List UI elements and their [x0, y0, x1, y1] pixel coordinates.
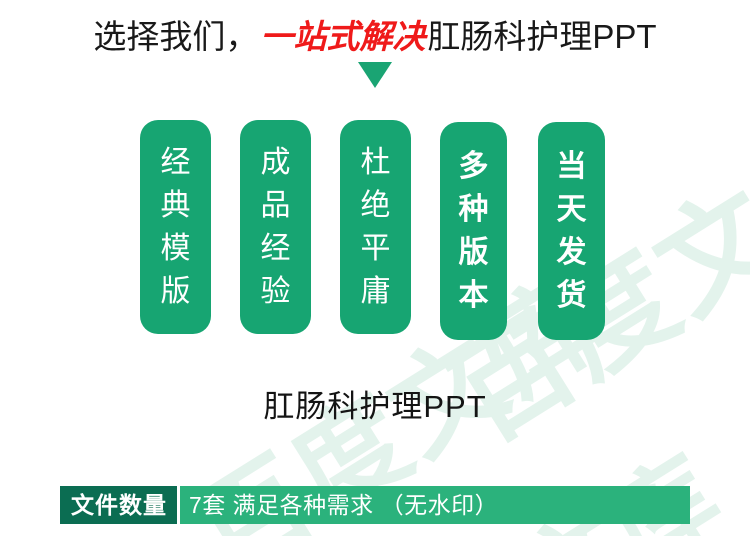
pill-char: 品	[261, 184, 291, 227]
headline-highlight: 一站式解决	[258, 18, 427, 55]
pill-char: 绝	[361, 184, 391, 227]
feature-pill-same-day-shipping: 当 天 发 货	[538, 122, 605, 340]
pill-char: 成	[261, 141, 291, 184]
pill-char: 经	[261, 227, 291, 270]
pill-char: 天	[557, 188, 587, 231]
pill-char: 版	[459, 231, 489, 274]
pill-char: 验	[261, 270, 291, 313]
feature-pill-classic-template: 经 典 模 版	[140, 120, 211, 334]
pill-char: 经	[161, 141, 191, 184]
headline-lead: 选择我们，	[93, 18, 258, 55]
triangle-down-icon	[358, 62, 392, 88]
pill-char: 典	[161, 184, 191, 227]
headline: 选择我们，一站式解决肛肠科护理PPT	[0, 14, 750, 60]
file-count-value: 7套 满足各种需求 （无水印）	[177, 486, 690, 524]
feature-pill-multiple-versions: 多 种 版 本	[440, 122, 507, 340]
pill-char: 版	[161, 270, 191, 313]
pill-char: 杜	[361, 141, 391, 184]
feature-pill-finished-product: 成 品 经 验	[240, 120, 311, 334]
subtitle-text: 肛肠科护理PPT	[0, 384, 750, 430]
file-count-bar: 文件数量 7套 满足各种需求 （无水印）	[60, 486, 690, 524]
subtitle-row: 肛肠科护理PPT	[0, 384, 750, 442]
pill-char: 货	[557, 274, 587, 317]
pill-char: 多	[459, 145, 489, 188]
pill-char: 平	[361, 227, 391, 270]
pill-char: 模	[161, 227, 191, 270]
pill-char: 种	[459, 188, 489, 231]
poster-canvas: 百度文库 百度文库 百度文库 选择我们，一站式解决肛肠科护理PPT 经 典 模 …	[0, 0, 750, 536]
pill-char: 庸	[361, 270, 391, 313]
pill-char: 本	[459, 274, 489, 317]
feature-pill-list: 经 典 模 版 成 品 经 验 杜 绝 平 庸 多 种 版 本 当 天 发 货	[0, 120, 750, 345]
pill-char: 当	[557, 145, 587, 188]
headline-tail: 肛肠科护理PPT	[427, 18, 656, 55]
feature-pill-no-mediocrity: 杜 绝 平 庸	[340, 120, 411, 334]
file-count-label: 文件数量	[60, 486, 177, 524]
pill-char: 发	[557, 231, 587, 274]
